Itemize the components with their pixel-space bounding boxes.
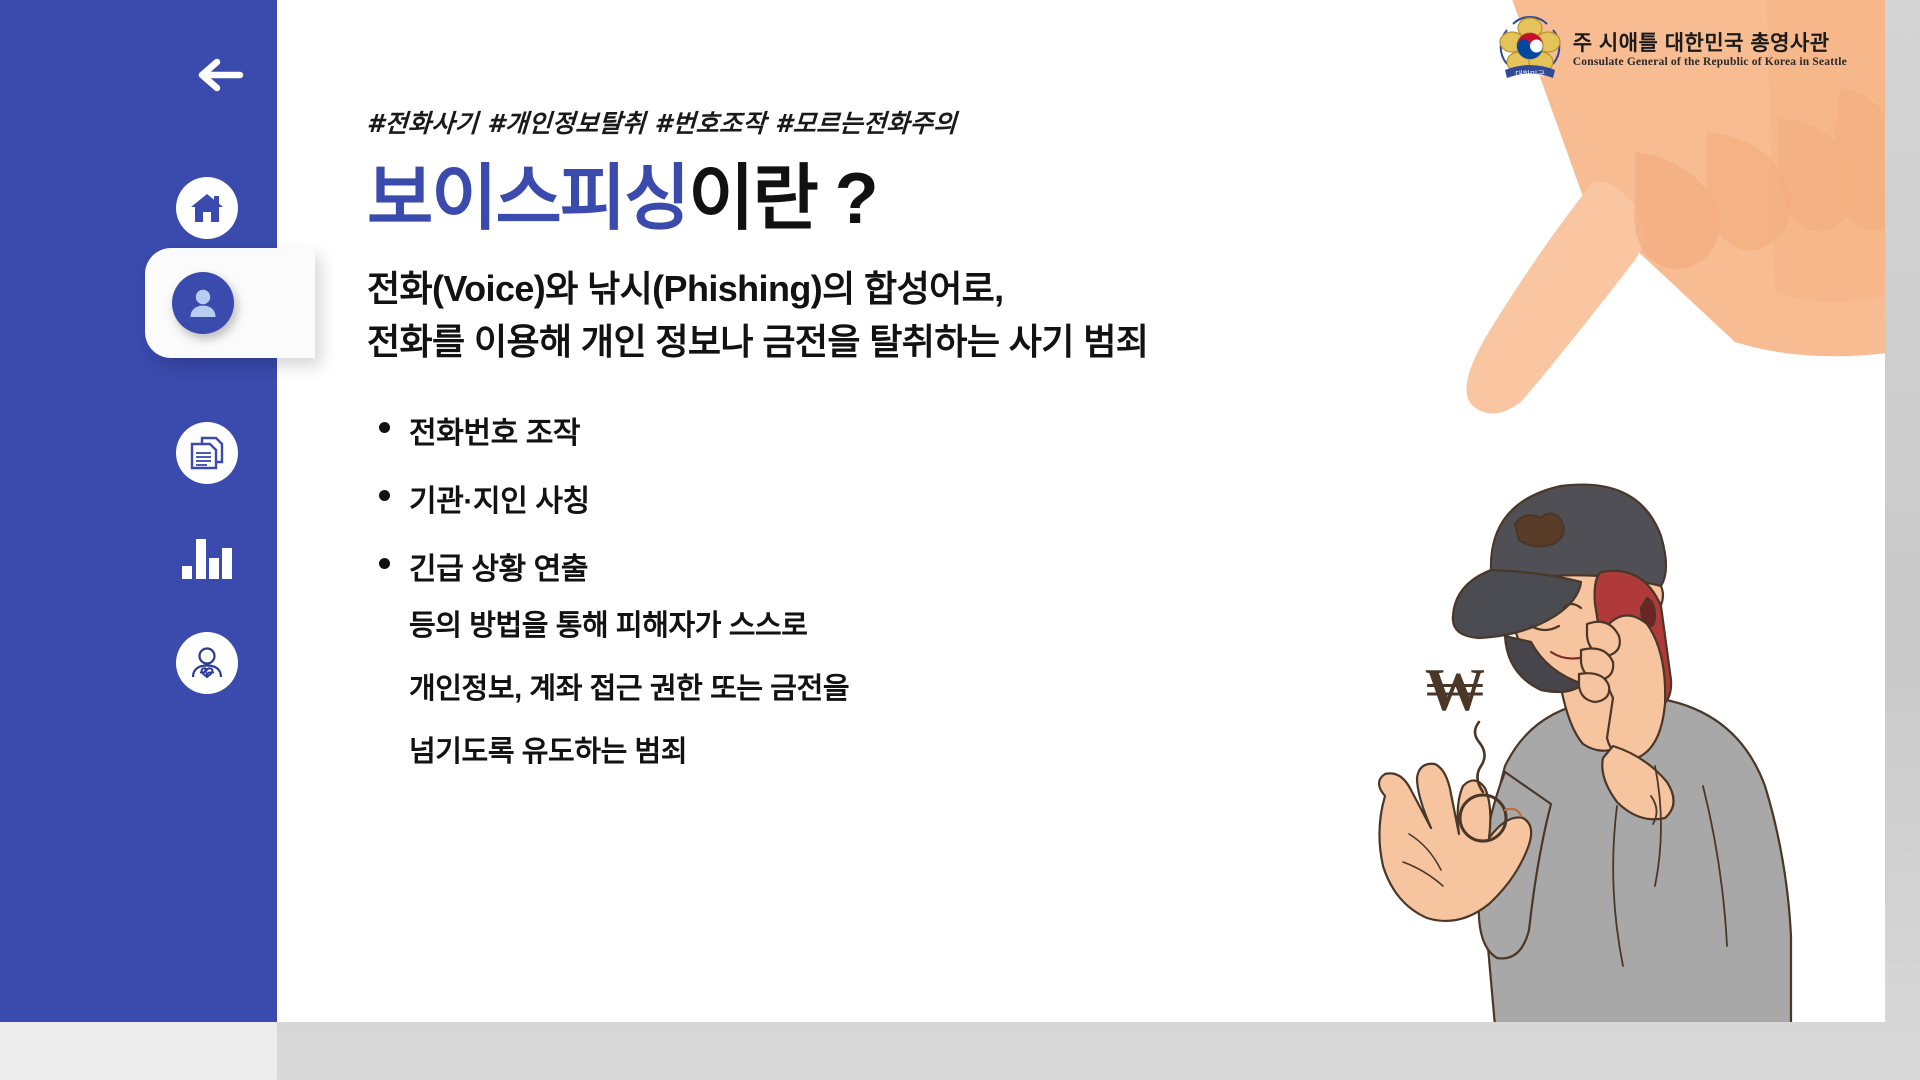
documents-icon <box>176 422 238 484</box>
definition-line-2: 전화를 이용해 개인 정보나 금전을 탈취하는 사기 범죄 <box>367 315 1347 368</box>
conclusion-line-1: 등의 방법을 통해 피해자가 스스로 <box>409 612 1347 641</box>
brand-name-english: Consulate General of the Republic of Kor… <box>1573 57 1847 69</box>
conclusion-line-3: 넘기도록 유도하는 범죄 <box>409 738 1347 767</box>
user-care-icon <box>176 632 238 694</box>
back-button[interactable] <box>190 55 252 99</box>
svg-text:대한민국: 대한민국 <box>1515 69 1544 79</box>
consulate-brand: 대한민국 주 시애틀 대한민국 총영사관 Consulate General o… <box>1497 14 1847 87</box>
sidebar <box>0 0 277 1022</box>
slide-card: ₩ <box>0 0 1885 1022</box>
page-title-rest: 이란 ? <box>688 159 876 239</box>
list-item: 기관·지인 사칭 <box>367 476 1347 520</box>
slide-text-column: #전화사기 #개인정보탈취 #번호조작 #모르는전화주의 보이스피싱이란 ? 전… <box>367 0 1347 801</box>
conclusion-paragraph: 등의 방법을 통해 피해자가 스스로 개인정보, 계좌 접근 권한 또는 금전을… <box>367 612 1347 767</box>
korea-national-emblem-icon: 대한민국 <box>1497 14 1563 87</box>
sidebar-item-user[interactable] <box>145 248 315 358</box>
user-icon <box>172 272 234 334</box>
sidebar-item-home[interactable] <box>0 165 277 251</box>
page-title-highlight: 보이스피싱 <box>367 159 688 239</box>
phone-scammer-illustration: ₩ <box>1355 466 1825 1022</box>
slide-content: ₩ <box>277 0 1885 1022</box>
definition-line-1: 전화(Voice)와 낚시(Phishing)의 합성어로, <box>367 262 1347 315</box>
sidebar-item-documents[interactable] <box>0 410 277 496</box>
bar-chart-icon <box>176 527 238 589</box>
method-bullet-list: 전화번호 조작 기관·지인 사칭 긴급 상황 연출 <box>367 408 1347 588</box>
sidebar-item-welfare[interactable] <box>0 620 277 706</box>
page-title: 보이스피싱이란 ? <box>367 162 1347 238</box>
home-icon <box>176 177 238 239</box>
definition-paragraph: 전화(Voice)와 낚시(Phishing)의 합성어로, 전화를 이용해 개… <box>367 262 1347 369</box>
list-item: 긴급 상황 연출 <box>367 544 1347 588</box>
brand-name-korean: 주 시애틀 대한민국 총영사관 <box>1573 33 1847 54</box>
slide-root: ₩ <box>0 0 1920 1080</box>
hashtag-line: #전화사기 #개인정보탈취 #번호조작 #모르는전화주의 <box>366 104 1348 140</box>
won-symbol: ₩ <box>1425 657 1485 723</box>
arrow-left-icon <box>198 58 244 97</box>
sidebar-item-statistics[interactable] <box>0 515 277 601</box>
list-item: 전화번호 조작 <box>367 408 1347 452</box>
conclusion-line-2: 개인정보, 계좌 접근 권한 또는 금전을 <box>409 675 1347 704</box>
